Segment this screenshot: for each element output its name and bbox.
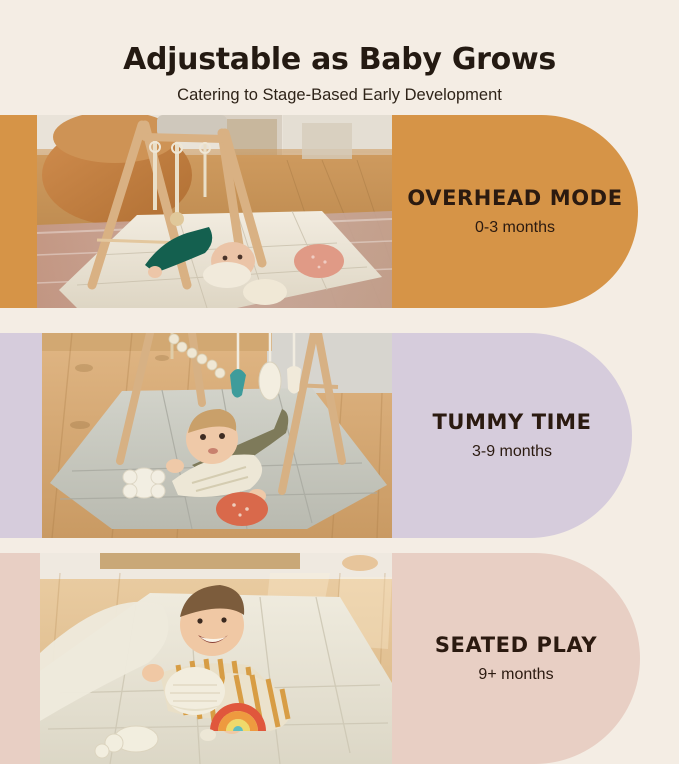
stage-age-2: 3-9 months	[472, 443, 552, 461]
stage-photo-seated-play	[40, 553, 392, 764]
stage-caption-seated-play: SEATED PLAY 9+ months	[392, 553, 640, 764]
page-subtitle: Catering to Stage-Based Early Developmen…	[177, 86, 502, 105]
stage-name-3: SEATED PLAY	[435, 633, 597, 657]
stage-row-seated-play: SEATED PLAY 9+ months	[0, 553, 679, 764]
stage-photo-overhead-mode	[37, 115, 392, 308]
photo-illustration-1	[37, 115, 392, 308]
stage-age-1: 0-3 months	[475, 219, 555, 237]
stage-name-2: TUMMY TIME	[432, 410, 591, 434]
stage-caption-overhead-mode: OVERHEAD MODE 0-3 months	[392, 115, 638, 308]
stage-row-overhead-mode: OVERHEAD MODE 0-3 months	[0, 115, 679, 308]
header: Adjustable as Baby Grows Catering to Sta…	[0, 0, 679, 115]
stage-age-3: 9+ months	[478, 666, 553, 684]
stage-photo-tummy-time	[42, 333, 392, 538]
stage-name-1: OVERHEAD MODE	[407, 186, 622, 210]
stage-row-tummy-time: TUMMY TIME 3-9 months	[0, 333, 679, 538]
photo-illustration-3	[40, 553, 392, 764]
page-title: Adjustable as Baby Grows	[123, 42, 556, 77]
photo-illustration-2	[42, 333, 392, 538]
stage-caption-tummy-time: TUMMY TIME 3-9 months	[392, 333, 632, 538]
